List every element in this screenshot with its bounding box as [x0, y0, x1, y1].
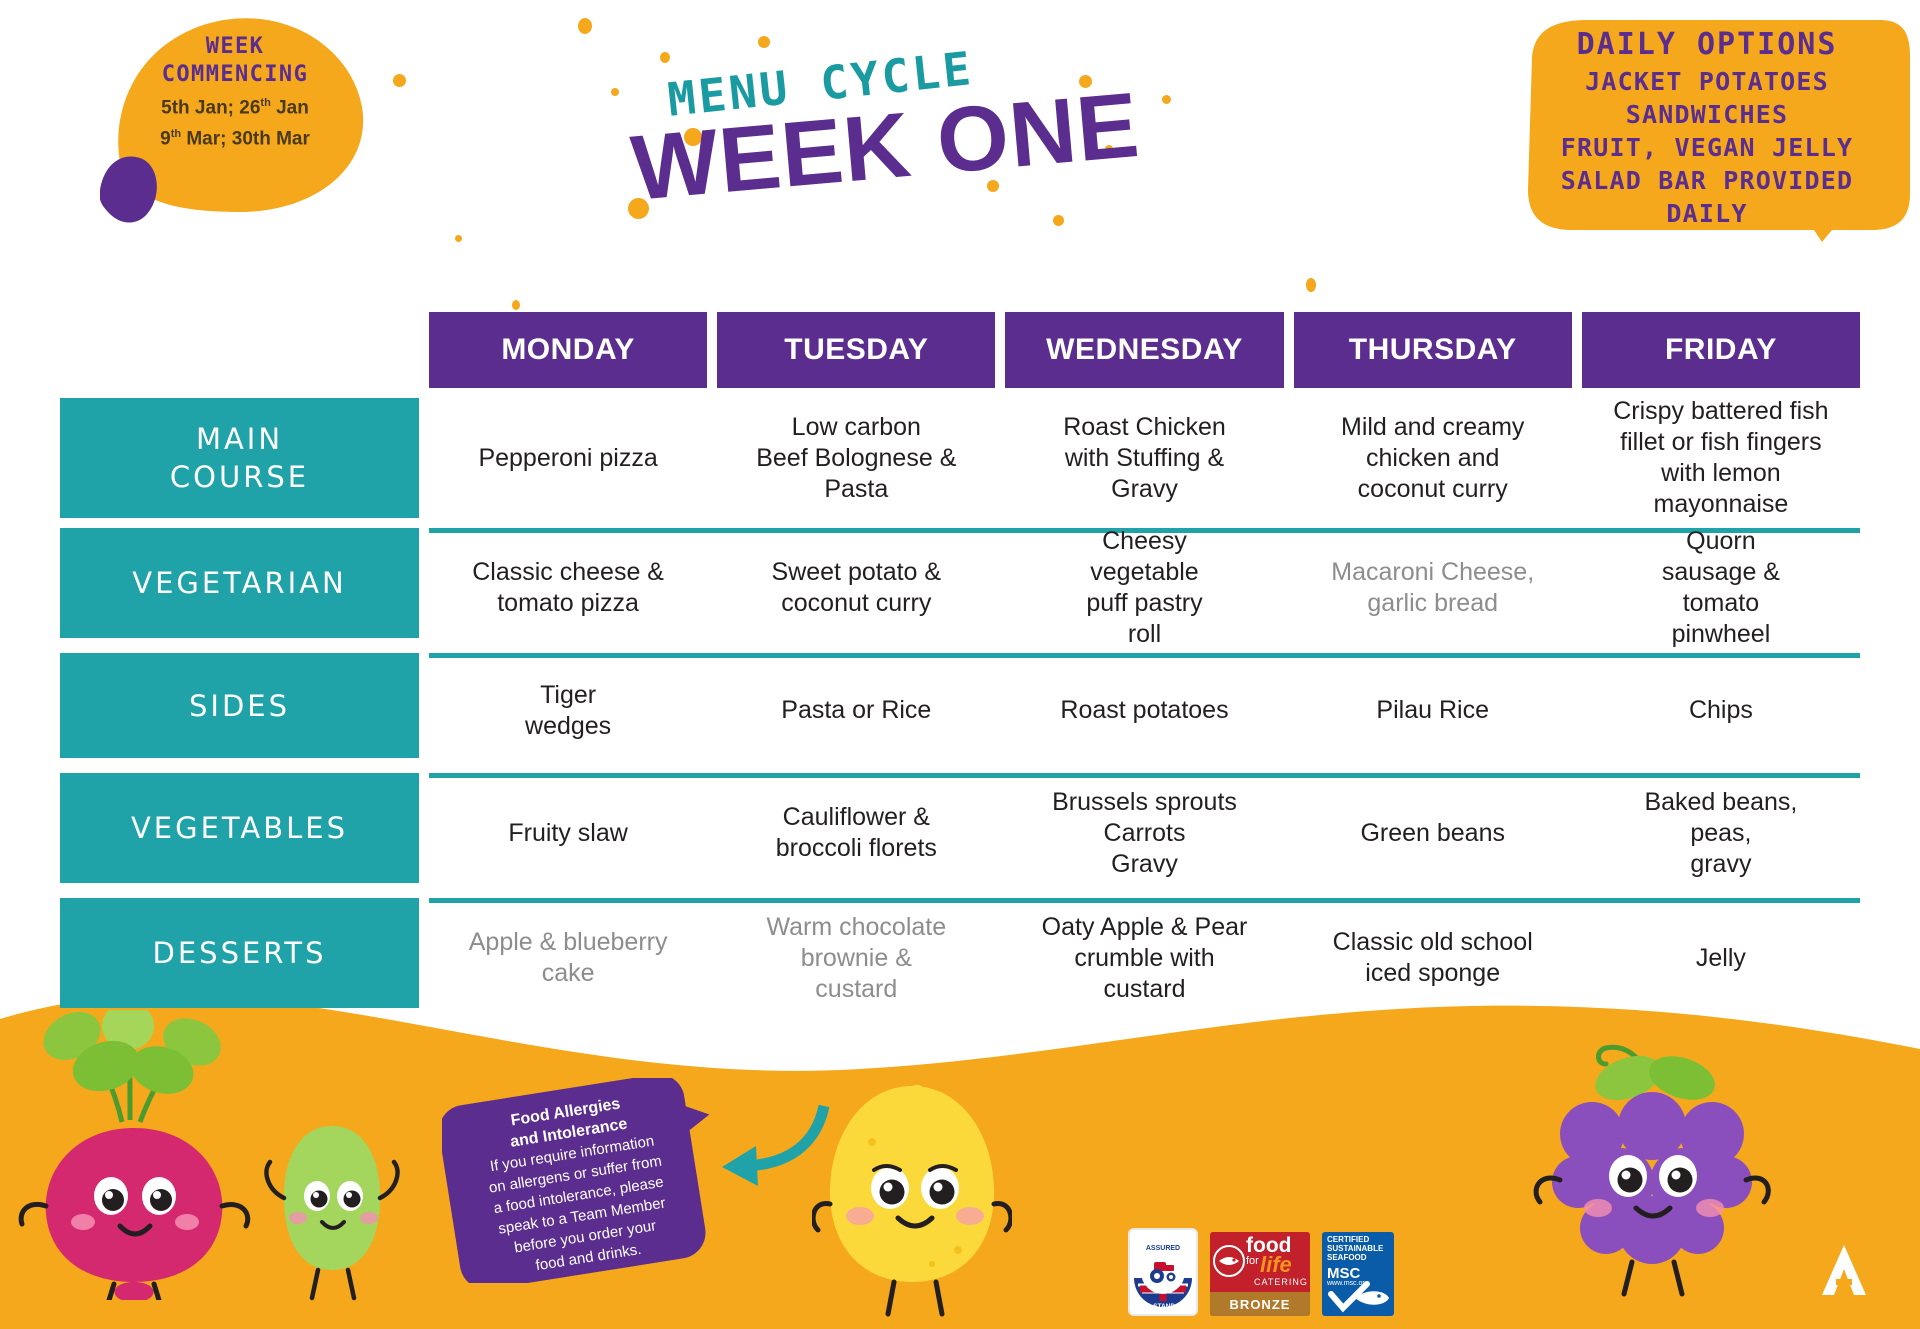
ffl-for: for	[1246, 1255, 1259, 1267]
red-tractor-top-text: ASSURED	[1146, 1245, 1180, 1252]
msc-logo: CERTIFIED SUSTAINABLE SEAFOOD MSC www.ms…	[1322, 1232, 1394, 1316]
brand-logo	[1810, 1235, 1880, 1305]
day-header-friday: FRIDAY	[1582, 312, 1860, 388]
row-label-vegetarian: VEGETARIAN	[60, 528, 419, 638]
table-row: MAINCOURSE Pepperoni pizza Low carbonBee…	[60, 398, 1860, 518]
row-label-vegetables: VEGETABLES	[60, 773, 419, 883]
week-label: WEEK	[206, 34, 265, 60]
menu-poster: WEEK COMMENCING 5th Jan; 26th Jan 9th Ma…	[0, 0, 1920, 1329]
pea-character	[262, 1118, 402, 1303]
red-tractor-bottom-text: FOOD STANDARDS	[1133, 1303, 1194, 1310]
certification-logos: ASSURED FOOD STANDARDS food for life CAT…	[1128, 1228, 1394, 1316]
food-for-life-logo: food for life CATERING BRONZE	[1210, 1232, 1310, 1316]
confetti-dot	[578, 18, 592, 34]
cell-desserts-wednesday: Oaty Apple & Pearcrumble withcustard	[1005, 903, 1283, 1013]
cell-sides-tuesday: Pasta or Rice	[717, 658, 995, 763]
cell-vegetarian-thursday: Macaroni Cheese,garlic bread	[1294, 533, 1572, 643]
ffl-catering: CATERING	[1254, 1277, 1308, 1287]
row-label-desserts: DESSERTS	[60, 898, 419, 1008]
cell-sides-thursday: Pilau Rice	[1294, 658, 1572, 763]
cell-sides-monday: Tigerwedges	[429, 658, 707, 763]
beetroot-character	[10, 1010, 260, 1300]
cell-main-thursday: Mild and creamychicken andcoconut curry	[1294, 398, 1572, 518]
daily-option-item: JACKET POTATOES	[1585, 65, 1829, 98]
daily-options-heading: DAILY OPTIONS	[1577, 25, 1838, 65]
confetti-dot	[455, 235, 462, 242]
cell-vegetables-tuesday: Cauliflower &broccoli florets	[717, 778, 995, 888]
cell-main-wednesday: Roast Chickenwith Stuffing &Gravy	[1005, 398, 1283, 518]
cell-main-tuesday: Low carbonBeef Bolognese &Pasta	[717, 398, 995, 518]
confetti-dot	[1306, 278, 1316, 292]
cell-vegetarian-monday: Classic cheese &tomato pizza	[429, 533, 707, 643]
cell-main-friday: Crispy battered fishfillet or fish finge…	[1582, 398, 1860, 518]
day-header-monday: MONDAY	[429, 312, 707, 388]
allergy-notice-text: Food Allergies and Intolerance If you re…	[439, 1072, 716, 1299]
daily-options-text: DAILY OPTIONS JACKET POTATOES SANDWICHES…	[1502, 18, 1912, 243]
ffl-level: BRONZE	[1210, 1292, 1310, 1316]
table-row: VEGETABLES Fruity slaw Cauliflower &broc…	[60, 773, 1860, 888]
allergy-arrow-icon	[700, 1100, 830, 1190]
cell-desserts-tuesday: Warm chocolatebrownie &custard	[717, 903, 995, 1013]
table-row: SIDES Tigerwedges Pasta or Rice Roast po…	[60, 653, 1860, 763]
cell-vegetarian-wednesday: Cheesyvegetablepuff pastryroll	[1005, 533, 1283, 643]
commencing-label: COMMENCING	[162, 60, 308, 90]
cell-desserts-thursday: Classic old schooliced sponge	[1294, 903, 1572, 1013]
day-header-wednesday: WEDNESDAY	[1005, 312, 1283, 388]
red-tractor-logo: ASSURED FOOD STANDARDS	[1128, 1228, 1198, 1316]
cell-vegetables-monday: Fruity slaw	[429, 778, 707, 888]
table-row: VEGETARIAN Classic cheese &tomato pizza …	[60, 528, 1860, 643]
day-header-thursday: THURSDAY	[1294, 312, 1572, 388]
table-row: DESSERTS Apple & blueberrycake Warm choc…	[60, 898, 1860, 1013]
table-header-row: MONDAY TUESDAY WEDNESDAY THURSDAY FRIDAY	[429, 312, 1860, 388]
poster-title: MENU CYCLE WEEK ONE	[600, 55, 1160, 235]
cell-desserts-friday: Jelly	[1582, 903, 1860, 1013]
confetti-dot	[393, 74, 406, 87]
row-label-sides: SIDES	[60, 653, 419, 758]
day-header-tuesday: TUESDAY	[717, 312, 995, 388]
allergy-body: If you require informationon allergens o…	[484, 1130, 676, 1282]
cell-sides-friday: Chips	[1582, 658, 1860, 763]
week-commencing-text: WEEK COMMENCING 5th Jan; 26th Jan 9th Ma…	[100, 12, 370, 227]
confetti-dot	[758, 36, 770, 48]
cell-vegetables-thursday: Green beans	[1294, 778, 1572, 888]
lemon-character	[812, 1080, 1012, 1320]
daily-option-item: FRUIT, VEGAN JELLY	[1561, 131, 1854, 164]
week-dates-line2: 9th Mar; 30th Mar	[160, 121, 310, 152]
grapes-character	[1520, 1030, 1780, 1310]
confetti-dot	[512, 300, 520, 310]
confetti-dot	[1162, 95, 1171, 104]
cell-vegetables-friday: Baked beans,peas,gravy	[1582, 778, 1860, 888]
cell-main-monday: Pepperoni pizza	[429, 398, 707, 518]
week-dates-line1: 5th Jan; 26th Jan	[161, 90, 309, 121]
cell-desserts-monday: Apple & blueberrycake	[429, 903, 707, 1013]
daily-option-item: SANDWICHES	[1626, 98, 1789, 131]
menu-table: MONDAY TUESDAY WEDNESDAY THURSDAY FRIDAY…	[60, 312, 1860, 1013]
msc-certified-text: CERTIFIED SUSTAINABLE SEAFOOD	[1327, 1235, 1383, 1262]
ffl-life: life	[1260, 1252, 1292, 1278]
cell-vegetarian-friday: Quornsausage &tomatopinwheel	[1582, 533, 1860, 643]
row-label-main-course: MAINCOURSE	[60, 398, 419, 518]
cell-sides-wednesday: Roast potatoes	[1005, 658, 1283, 763]
cell-vegetarian-tuesday: Sweet potato &coconut curry	[717, 533, 995, 643]
cell-vegetables-wednesday: Brussels sproutsCarrotsGravy	[1005, 778, 1283, 888]
daily-option-item: SALAD BAR PROVIDED DAILY	[1512, 164, 1902, 230]
